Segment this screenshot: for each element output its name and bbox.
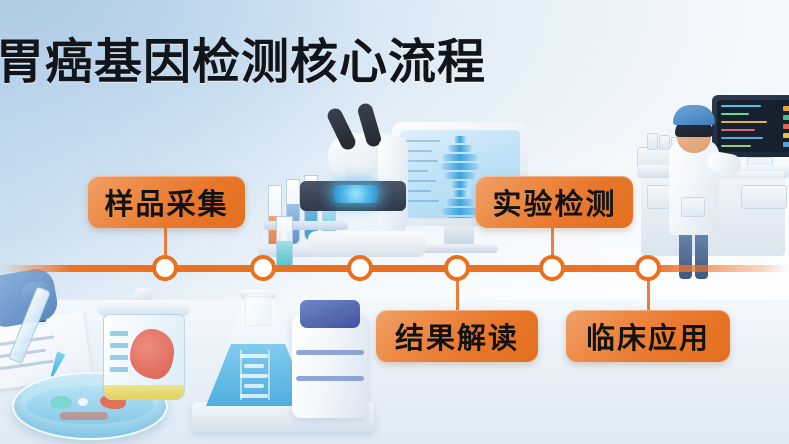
stage-label-text: 结果解读 [395, 315, 519, 357]
infographic-canvas: 胃癌基因检测核心流程 样品采集 实验检测 结果解读 临床应用 [0, 0, 789, 444]
timeline-node-5[interactable] [539, 255, 565, 281]
timeline-node-2[interactable] [250, 255, 276, 281]
timeline-node-6[interactable] [635, 255, 661, 281]
stage-label-sample-collection[interactable]: 样品采集 [88, 176, 245, 228]
specimen-cell-2 [78, 398, 88, 406]
technician-cap [673, 105, 715, 125]
lab-workstation [637, 95, 789, 265]
data-monitor [712, 95, 789, 157]
coat-pocket [681, 197, 705, 217]
stage-label-result-interpretation[interactable]: 结果解读 [376, 310, 538, 362]
specimen-cell-1 [50, 396, 72, 409]
reagent-small-2 [659, 135, 670, 150]
stage-label-text: 样品采集 [104, 181, 228, 223]
timeline-node-3[interactable] [347, 255, 373, 281]
specimen-cell-4 [60, 412, 108, 420]
dna-helix-graphic [459, 134, 461, 218]
timeline-track [0, 265, 789, 272]
bottle-band-2 [296, 376, 364, 381]
bottle-body [292, 314, 368, 418]
reagent-small-1 [647, 133, 658, 150]
microscope-slide-light [334, 185, 378, 203]
data-monitor-screen [717, 100, 789, 152]
jar-body [103, 314, 185, 400]
jar-fluid [104, 385, 184, 399]
bottle-cap [300, 300, 360, 328]
reagent-bottle [290, 300, 370, 406]
test-tube-standalone [276, 216, 293, 270]
specimen-jar [96, 288, 192, 394]
stage-label-text: 临床应用 [586, 315, 710, 357]
page-title: 胃癌基因检测核心流程 [0, 22, 486, 92]
stage-label-clinical-application[interactable]: 临床应用 [566, 310, 730, 362]
bottle-band-1 [296, 350, 364, 355]
microscope [300, 115, 436, 257]
stage-label-lab-testing[interactable]: 实验检测 [476, 176, 633, 228]
timeline-node-4[interactable] [444, 255, 470, 281]
monitor-stand [444, 226, 474, 246]
stomach-model [130, 329, 174, 379]
stage-label-text: 实验检测 [492, 181, 616, 223]
desk-drawer-2 [741, 185, 787, 209]
timeline-node-1[interactable] [152, 255, 178, 281]
microscope-base [308, 231, 426, 257]
